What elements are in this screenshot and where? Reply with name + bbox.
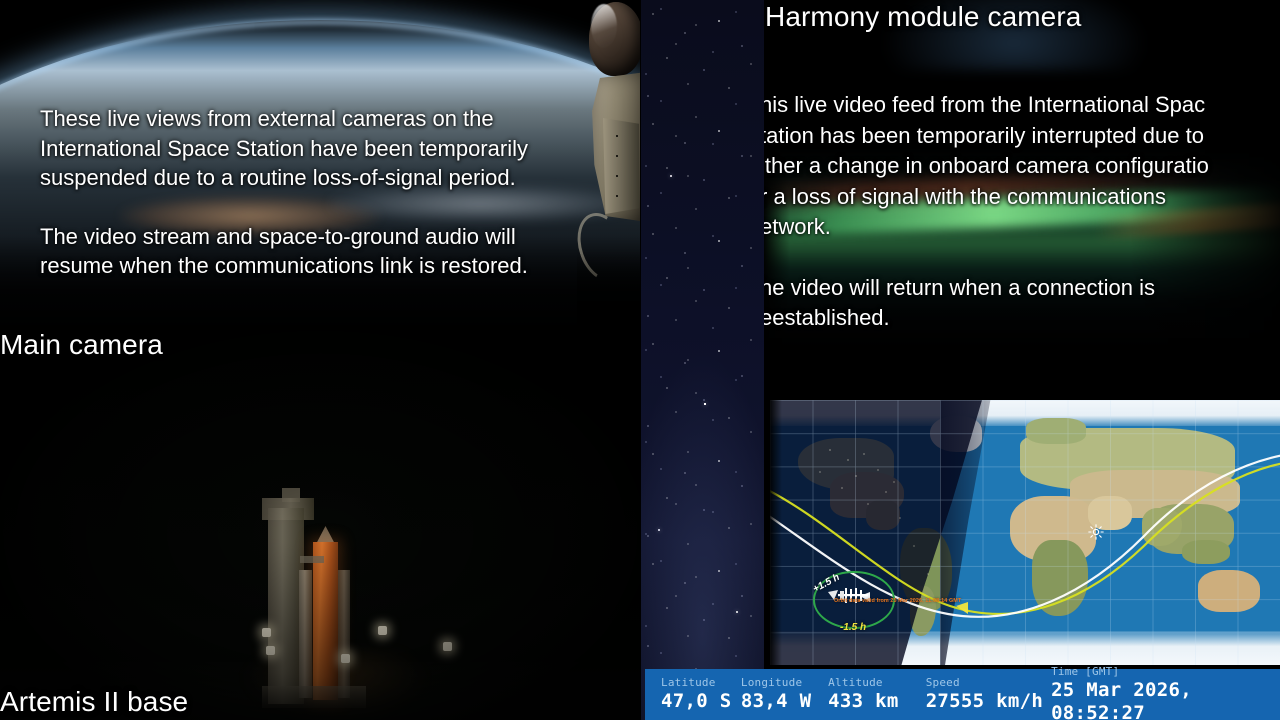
iss-telemetry-bar: Latitude 47,0 S Longitude 83,4 W Altitud…	[645, 669, 1280, 720]
telemetry-value-time: 25 Mar 2026, 08:52:27	[1051, 679, 1280, 720]
telemetry-value-speed: 27555 km/h	[926, 690, 1051, 713]
telemetry-label-speed: Speed	[926, 676, 1051, 690]
star-layer-accent-graphic	[641, 0, 764, 720]
map-left-edge-shadow	[770, 400, 782, 665]
status-paragraph-2: The video stream and space-to-ground aud…	[40, 222, 610, 281]
dome-highlight-graphic	[591, 4, 617, 48]
telemetry-label-longitude: Longitude	[741, 676, 828, 690]
telemetry-field-speed: Speed 27555 km/h	[926, 676, 1051, 713]
main-camera-status-message: These live views from external cameras o…	[40, 104, 610, 281]
telemetry-field-altitude: Altitude 433 km	[828, 676, 926, 713]
artemis-base-video[interactable]	[0, 330, 641, 720]
starfield-video-strip[interactable]	[641, 0, 764, 720]
telemetry-value-latitude: 47,0 S	[661, 690, 741, 713]
subsolar-point-icon	[1088, 524, 1104, 540]
telemetry-label-altitude: Altitude	[828, 676, 926, 690]
harmony-camera-status-message: his live video feed from the Internation…	[764, 90, 1280, 334]
telemetry-value-altitude: 433 km	[828, 690, 926, 713]
past-track-time-label: -1.5 h	[840, 622, 866, 633]
telemetry-label-time: Time [GMT]	[1051, 665, 1280, 679]
telemetry-value-longitude: 83,4 W	[741, 690, 828, 713]
left-video-panel[interactable]: These live views from external cameras o…	[0, 0, 641, 720]
screen-root: These live views from external cameras o…	[0, 0, 1280, 720]
telemetry-label-latitude: Latitude	[661, 676, 741, 690]
main-camera-video[interactable]: These live views from external cameras o…	[0, 0, 641, 330]
main-camera-label: Main camera	[0, 329, 163, 361]
iss-tracker-map[interactable]: +1.5 h -1.5 h Orbit data valid from 25 M…	[770, 400, 1280, 665]
orbit-data-validity-note: Orbit data valid from 25 Mar 2026, 11:08…	[834, 598, 982, 604]
harmony-module-camera-video[interactable]: his live video feed from the Internation…	[764, 0, 1280, 400]
scene-vignette-overlay	[0, 330, 641, 720]
status-paragraph-1: These live views from external cameras o…	[40, 106, 528, 190]
harmony-module-camera-label: Harmony module camera	[765, 1, 1081, 33]
telemetry-field-time: Time [GMT] 25 Mar 2026, 08:52:27	[1051, 665, 1280, 720]
status-paragraph-2: he video will return when a connection i…	[764, 273, 1280, 334]
telemetry-field-latitude: Latitude 47,0 S	[661, 676, 741, 713]
telemetry-field-longitude: Longitude 83,4 W	[741, 676, 828, 713]
status-paragraph-1: his live video feed from the Internation…	[764, 92, 1209, 239]
panel-fasteners-graphic	[611, 128, 635, 204]
artemis-base-label: Artemis II base	[0, 686, 188, 718]
